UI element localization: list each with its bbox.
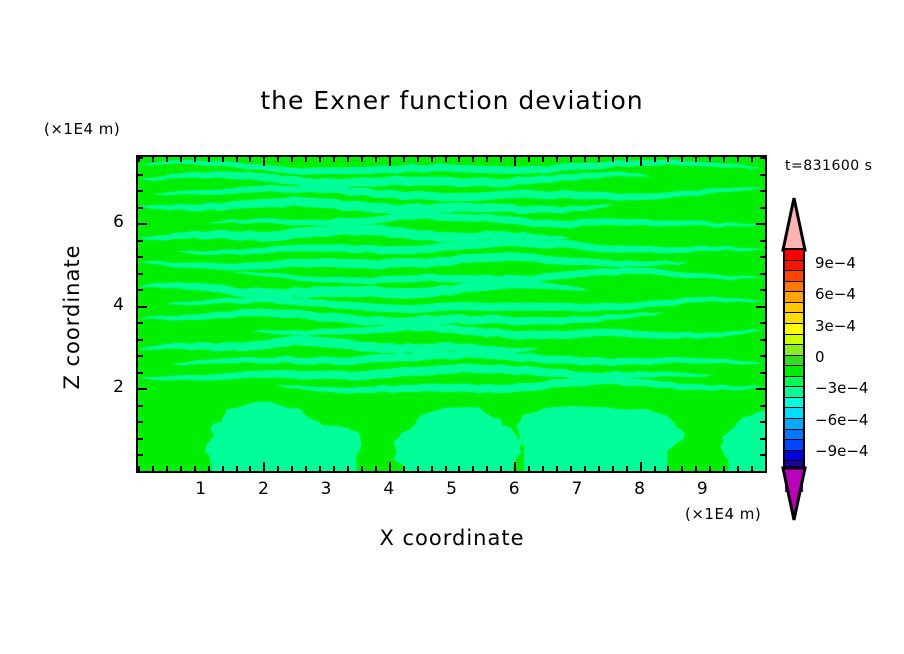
contour-field	[138, 157, 765, 471]
page-title: the Exner function deviation	[0, 86, 904, 115]
colorbar-tick-label: −9e−4	[815, 442, 868, 460]
y-tick-label: 4	[84, 295, 124, 315]
y-tick-label: 2	[84, 377, 124, 397]
timestamp-annotation: t=831600 s	[785, 158, 872, 174]
y-axis-label: Z coordinate	[60, 197, 84, 437]
colorbar-tick-label: 3e−4	[815, 317, 856, 335]
colorbar-tick-label: −3e−4	[815, 379, 868, 397]
x-tick-label: 5	[432, 479, 472, 499]
colorbar-tick-labels: 9e−46e−43e−40−3e−4−6e−4−9e−4	[779, 196, 899, 520]
colorbar-tick-label: −6e−4	[815, 411, 868, 429]
x-tick-label: 9	[682, 479, 722, 499]
x-tick-label: 6	[494, 479, 534, 499]
x-tick-label: 8	[620, 479, 660, 499]
x-axis-unit-label: (×1E4 m)	[685, 505, 761, 523]
colorbar-tick-label: 0	[815, 348, 825, 366]
x-tick-label: 2	[243, 479, 283, 499]
x-tick-label: 7	[557, 479, 597, 499]
contour-plot-area	[136, 155, 767, 473]
x-tick-label: 4	[369, 479, 409, 499]
x-tick-label: 1	[181, 479, 221, 499]
colorbar-tick-label: 9e−4	[815, 254, 856, 272]
y-axis-unit-label: (×1E4 m)	[44, 120, 120, 138]
x-axis-label: X coordinate	[136, 526, 768, 550]
x-tick-label: 3	[306, 479, 346, 499]
y-tick-label: 6	[84, 212, 124, 232]
colorbar-tick-label: 6e−4	[815, 285, 856, 303]
